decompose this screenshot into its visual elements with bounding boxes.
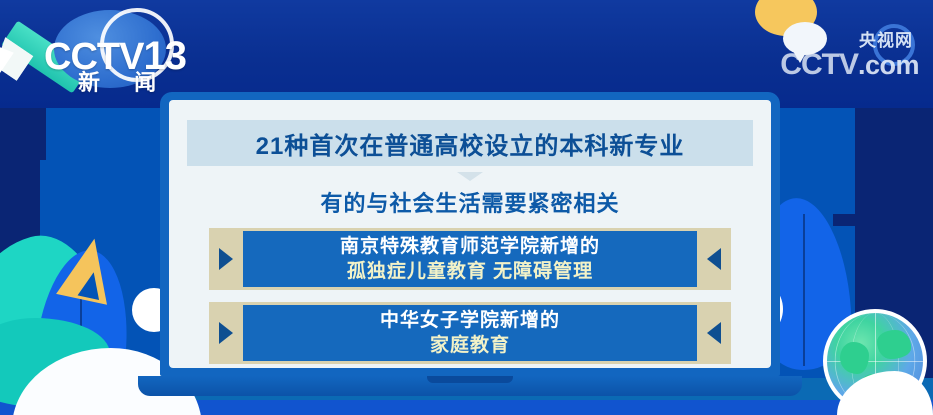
laptop-bezel: 21种首次在普通高校设立的本科新专业 有的与社会生活需要紧密相关 南京特殊教育师… (160, 92, 780, 376)
broadcast-frame: CCTV13 新 闻 CCTV .com 央视网 21种首次在普通高校设立的本科… (0, 0, 933, 415)
info-box-1-right-arrow-cell (697, 248, 731, 270)
info-box-2-line-2: 家庭教育 (430, 334, 510, 358)
chevron-down-icon (457, 172, 483, 181)
arrow-left-icon (707, 248, 721, 270)
subtitle-text: 有的与社会生活需要紧密相关 (169, 186, 771, 218)
info-box-2-right-arrow-cell (697, 322, 731, 344)
info-box-2-line-1: 中华女子学院新增的 (380, 309, 560, 333)
laptop-notch (427, 376, 513, 383)
background-panel-left-blue (40, 108, 146, 378)
speech-bubble-icon (783, 22, 827, 55)
watermark-cctv-text: CCTV (780, 50, 858, 80)
cctv13-logo: CCTV13 新 闻 (44, 6, 220, 102)
watermark-cn-label: 央视网 (859, 26, 913, 51)
laptop-screen: 21种首次在普通高校设立的本科新专业 有的与社会生活需要紧密相关 南京特殊教育师… (169, 100, 771, 368)
info-box-2-left-arrow-cell (209, 322, 243, 344)
info-box-1-line-2: 孤独症儿童教育 无障碍管理 (347, 260, 593, 284)
background-band-bottom (0, 400, 933, 415)
info-box-1-left-arrow-cell (209, 248, 243, 270)
info-box-1-content: 南京特殊教育师范学院新增的 孤独症儿童教育 无障碍管理 (243, 231, 697, 287)
logo-subtitle: 新 闻 (78, 72, 218, 94)
info-box-1: 南京特殊教育师范学院新增的 孤独症儿童教育 无障碍管理 (209, 228, 731, 290)
info-box-1-line-1: 南京特殊教育师范学院新增的 (340, 235, 600, 259)
arrow-right-icon (219, 248, 233, 270)
cctv-com-watermark: CCTV .com 央视网 (780, 44, 919, 86)
headline-banner: 21种首次在普通高校设立的本科新专业 (187, 120, 753, 166)
watermark-com-text: .com (858, 50, 919, 81)
info-box-2-content: 中华女子学院新增的 家庭教育 (243, 305, 697, 361)
headline-text: 21种首次在普通高校设立的本科新专业 (256, 126, 685, 161)
laptop-illustration: 21种首次在普通高校设立的本科新专业 有的与社会生活需要紧密相关 南京特殊教育师… (160, 92, 780, 392)
info-box-2: 中华女子学院新增的 家庭教育 (209, 302, 731, 364)
arrow-left-icon (707, 322, 721, 344)
arrow-right-icon (219, 322, 233, 344)
